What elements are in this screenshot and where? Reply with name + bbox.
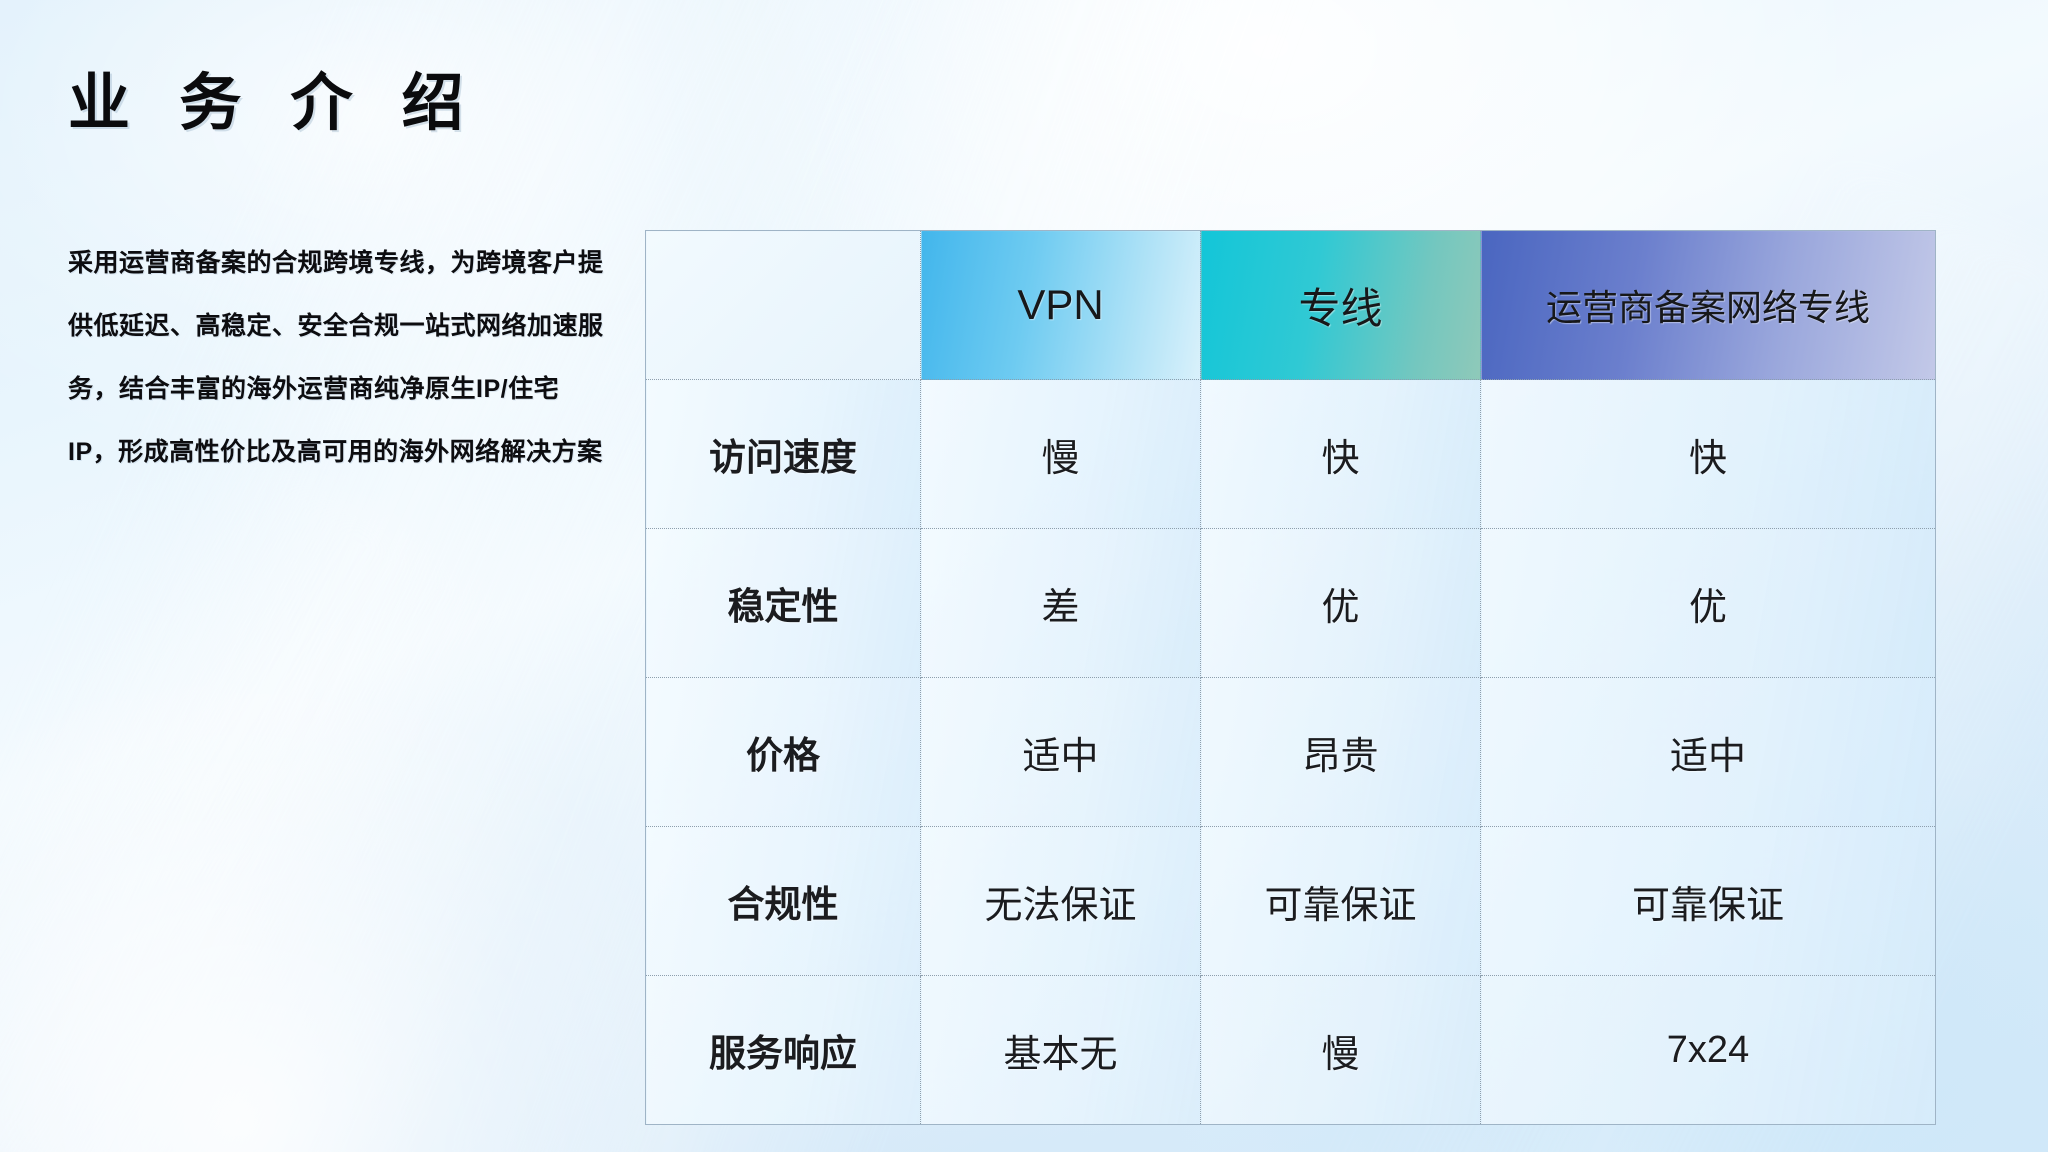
table-row: 服务响应 基本无 慢 7x24 <box>646 976 1936 1125</box>
background-corner-glow <box>0 672 740 1152</box>
row-label-price: 价格 <box>646 678 921 827</box>
table-body: 访问速度 慢 快 快 稳定性 差 优 优 价格 适中 昂贵 适中 合规性 无法保… <box>646 380 1936 1125</box>
background-light-streak <box>0 416 531 1152</box>
table-row: 合规性 无法保证 可靠保证 可靠保证 <box>646 827 1936 976</box>
cell-stability-vpn: 差 <box>921 529 1201 678</box>
cell-stability-dedicated-line: 优 <box>1201 529 1481 678</box>
cell-service-response-vpn: 基本无 <box>921 976 1201 1125</box>
comparison-table: VPN 专线 运营商备案网络专线 访问速度 慢 快 快 稳定性 差 优 优 价格… <box>645 230 1936 1125</box>
column-header-vpn: VPN <box>921 231 1201 380</box>
page-title: 业 务 介 绍 <box>68 52 480 142</box>
table-row: 稳定性 差 优 优 <box>646 529 1936 678</box>
cell-price-dedicated-line: 昂贵 <box>1201 678 1481 827</box>
row-label-service-response: 服务响应 <box>646 976 921 1125</box>
row-label-compliance: 合规性 <box>646 827 921 976</box>
cell-compliance-operator-line: 可靠保证 <box>1481 827 1936 976</box>
row-label-access-speed: 访问速度 <box>646 380 921 529</box>
slide-canvas: 业 务 介 绍 采用运营商备案的合规跨境专线，为跨境客户提供低延迟、高稳定、安全… <box>0 0 2048 1152</box>
cell-compliance-dedicated-line: 可靠保证 <box>1201 827 1481 976</box>
cell-compliance-vpn: 无法保证 <box>921 827 1201 976</box>
cell-price-vpn: 适中 <box>921 678 1201 827</box>
lead-paragraph: 采用运营商备案的合规跨境专线，为跨境客户提供低延迟、高稳定、安全合规一站式网络加… <box>68 232 608 484</box>
column-header-operator-registered-line: 运营商备案网络专线 <box>1481 231 1936 380</box>
cell-access-speed-operator-line: 快 <box>1481 380 1936 529</box>
column-header-blank <box>646 231 921 380</box>
cell-access-speed-dedicated-line: 快 <box>1201 380 1481 529</box>
table-header-row: VPN 专线 运营商备案网络专线 <box>646 231 1936 380</box>
cell-access-speed-vpn: 慢 <box>921 380 1201 529</box>
row-label-stability: 稳定性 <box>646 529 921 678</box>
cell-service-response-dedicated-line: 慢 <box>1201 976 1481 1125</box>
cell-stability-operator-line: 优 <box>1481 529 1936 678</box>
column-header-dedicated-line: 专线 <box>1201 231 1481 380</box>
table-row: 访问速度 慢 快 快 <box>646 380 1936 529</box>
cell-price-operator-line: 适中 <box>1481 678 1936 827</box>
table-header: VPN 专线 运营商备案网络专线 <box>646 231 1936 380</box>
table-row: 价格 适中 昂贵 适中 <box>646 678 1936 827</box>
cell-service-response-operator-line: 7x24 <box>1481 976 1936 1125</box>
